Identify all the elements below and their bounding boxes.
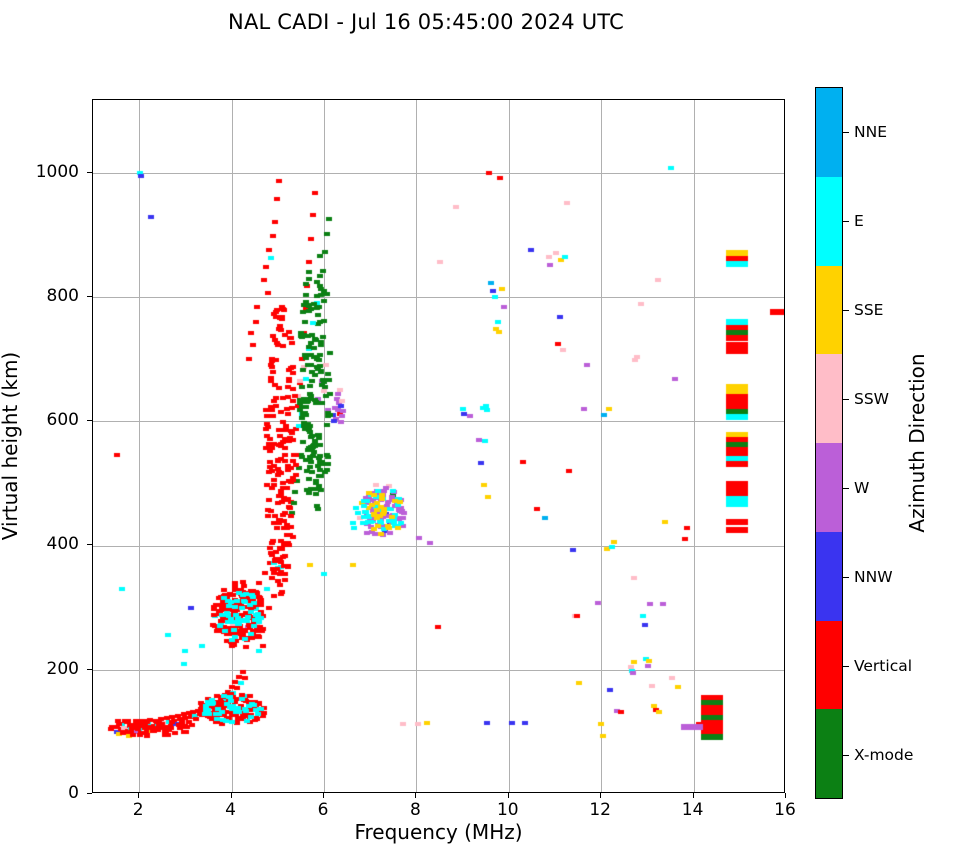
ionogram-figure: NAL CADI - Jul 16 05:45:00 2024 UTC 2468… xyxy=(0,0,958,857)
y-tick-label: 600 xyxy=(47,410,79,430)
colorbar-segment-w[interactable] xyxy=(816,443,842,532)
colorbar-label-sse: SSE xyxy=(854,301,883,319)
colorbar-label-e: E xyxy=(854,212,864,230)
colorbar-segment-nne[interactable] xyxy=(816,88,842,177)
x-tick-label: 8 xyxy=(410,800,421,820)
colorbar-label-x-mode: X-mode xyxy=(854,746,913,764)
x-tick-label: 4 xyxy=(225,800,236,820)
x-tick-label: 6 xyxy=(318,800,329,820)
colorbar-tick xyxy=(843,488,849,489)
colorbar-tick xyxy=(843,577,849,578)
colorbar-label-vertical: Vertical xyxy=(854,657,912,675)
y-tick-label: 200 xyxy=(47,659,79,679)
y-tick-mark xyxy=(87,669,92,670)
y-axis-label: Virtual height (km) xyxy=(0,352,22,541)
y-tick-mark xyxy=(87,544,92,545)
colorbar-segment-vertical[interactable] xyxy=(816,621,842,710)
y-tick-label: 0 xyxy=(68,783,79,803)
colorbar-label-w: W xyxy=(854,479,869,497)
colorbar-segment-nnw[interactable] xyxy=(816,532,842,621)
colorbar-segment-e[interactable] xyxy=(816,177,842,266)
scatter-layer xyxy=(93,100,784,792)
x-tick-label: 12 xyxy=(589,800,611,820)
colorbar-tick xyxy=(843,666,849,667)
colorbar-label-ssw: SSW xyxy=(854,390,889,408)
y-tick-mark xyxy=(87,793,92,794)
x-tick-mark xyxy=(508,793,509,798)
y-tick-label: 1000 xyxy=(36,162,79,182)
x-tick-label: 14 xyxy=(682,800,704,820)
colorbar-tick xyxy=(843,132,849,133)
x-tick-label: 16 xyxy=(774,800,796,820)
colorbar-tick xyxy=(843,310,849,311)
y-tick-label: 400 xyxy=(47,534,79,554)
plot-area[interactable] xyxy=(92,99,785,793)
x-axis-label: Frequency (MHz) xyxy=(92,820,785,844)
x-tick-mark xyxy=(415,793,416,798)
colorbar-tick xyxy=(843,221,849,222)
scatter-canvas xyxy=(93,100,784,792)
colorbar-segment-x-mode[interactable] xyxy=(816,709,842,798)
page-title: NAL CADI - Jul 16 05:45:00 2024 UTC xyxy=(0,10,852,34)
x-tick-mark xyxy=(138,793,139,798)
colorbar-tick xyxy=(843,755,849,756)
y-tick-label: 800 xyxy=(47,286,79,306)
x-tick-label: 2 xyxy=(133,800,144,820)
y-tick-mark xyxy=(87,296,92,297)
colorbar-segment-ssw[interactable] xyxy=(816,354,842,443)
y-tick-mark xyxy=(87,420,92,421)
colorbar-title: Azimuth Direction xyxy=(905,353,929,532)
colorbar-label-nnw: NNW xyxy=(854,568,893,586)
colorbar[interactable] xyxy=(815,87,843,799)
x-tick-mark xyxy=(693,793,694,798)
colorbar-label-nne: NNE xyxy=(854,123,887,141)
x-tick-mark xyxy=(785,793,786,798)
colorbar-tick xyxy=(843,399,849,400)
x-tick-mark xyxy=(323,793,324,798)
colorbar-segment-sse[interactable] xyxy=(816,266,842,355)
x-tick-mark xyxy=(231,793,232,798)
y-tick-mark xyxy=(87,172,92,173)
x-tick-label: 10 xyxy=(497,800,519,820)
x-tick-mark xyxy=(600,793,601,798)
